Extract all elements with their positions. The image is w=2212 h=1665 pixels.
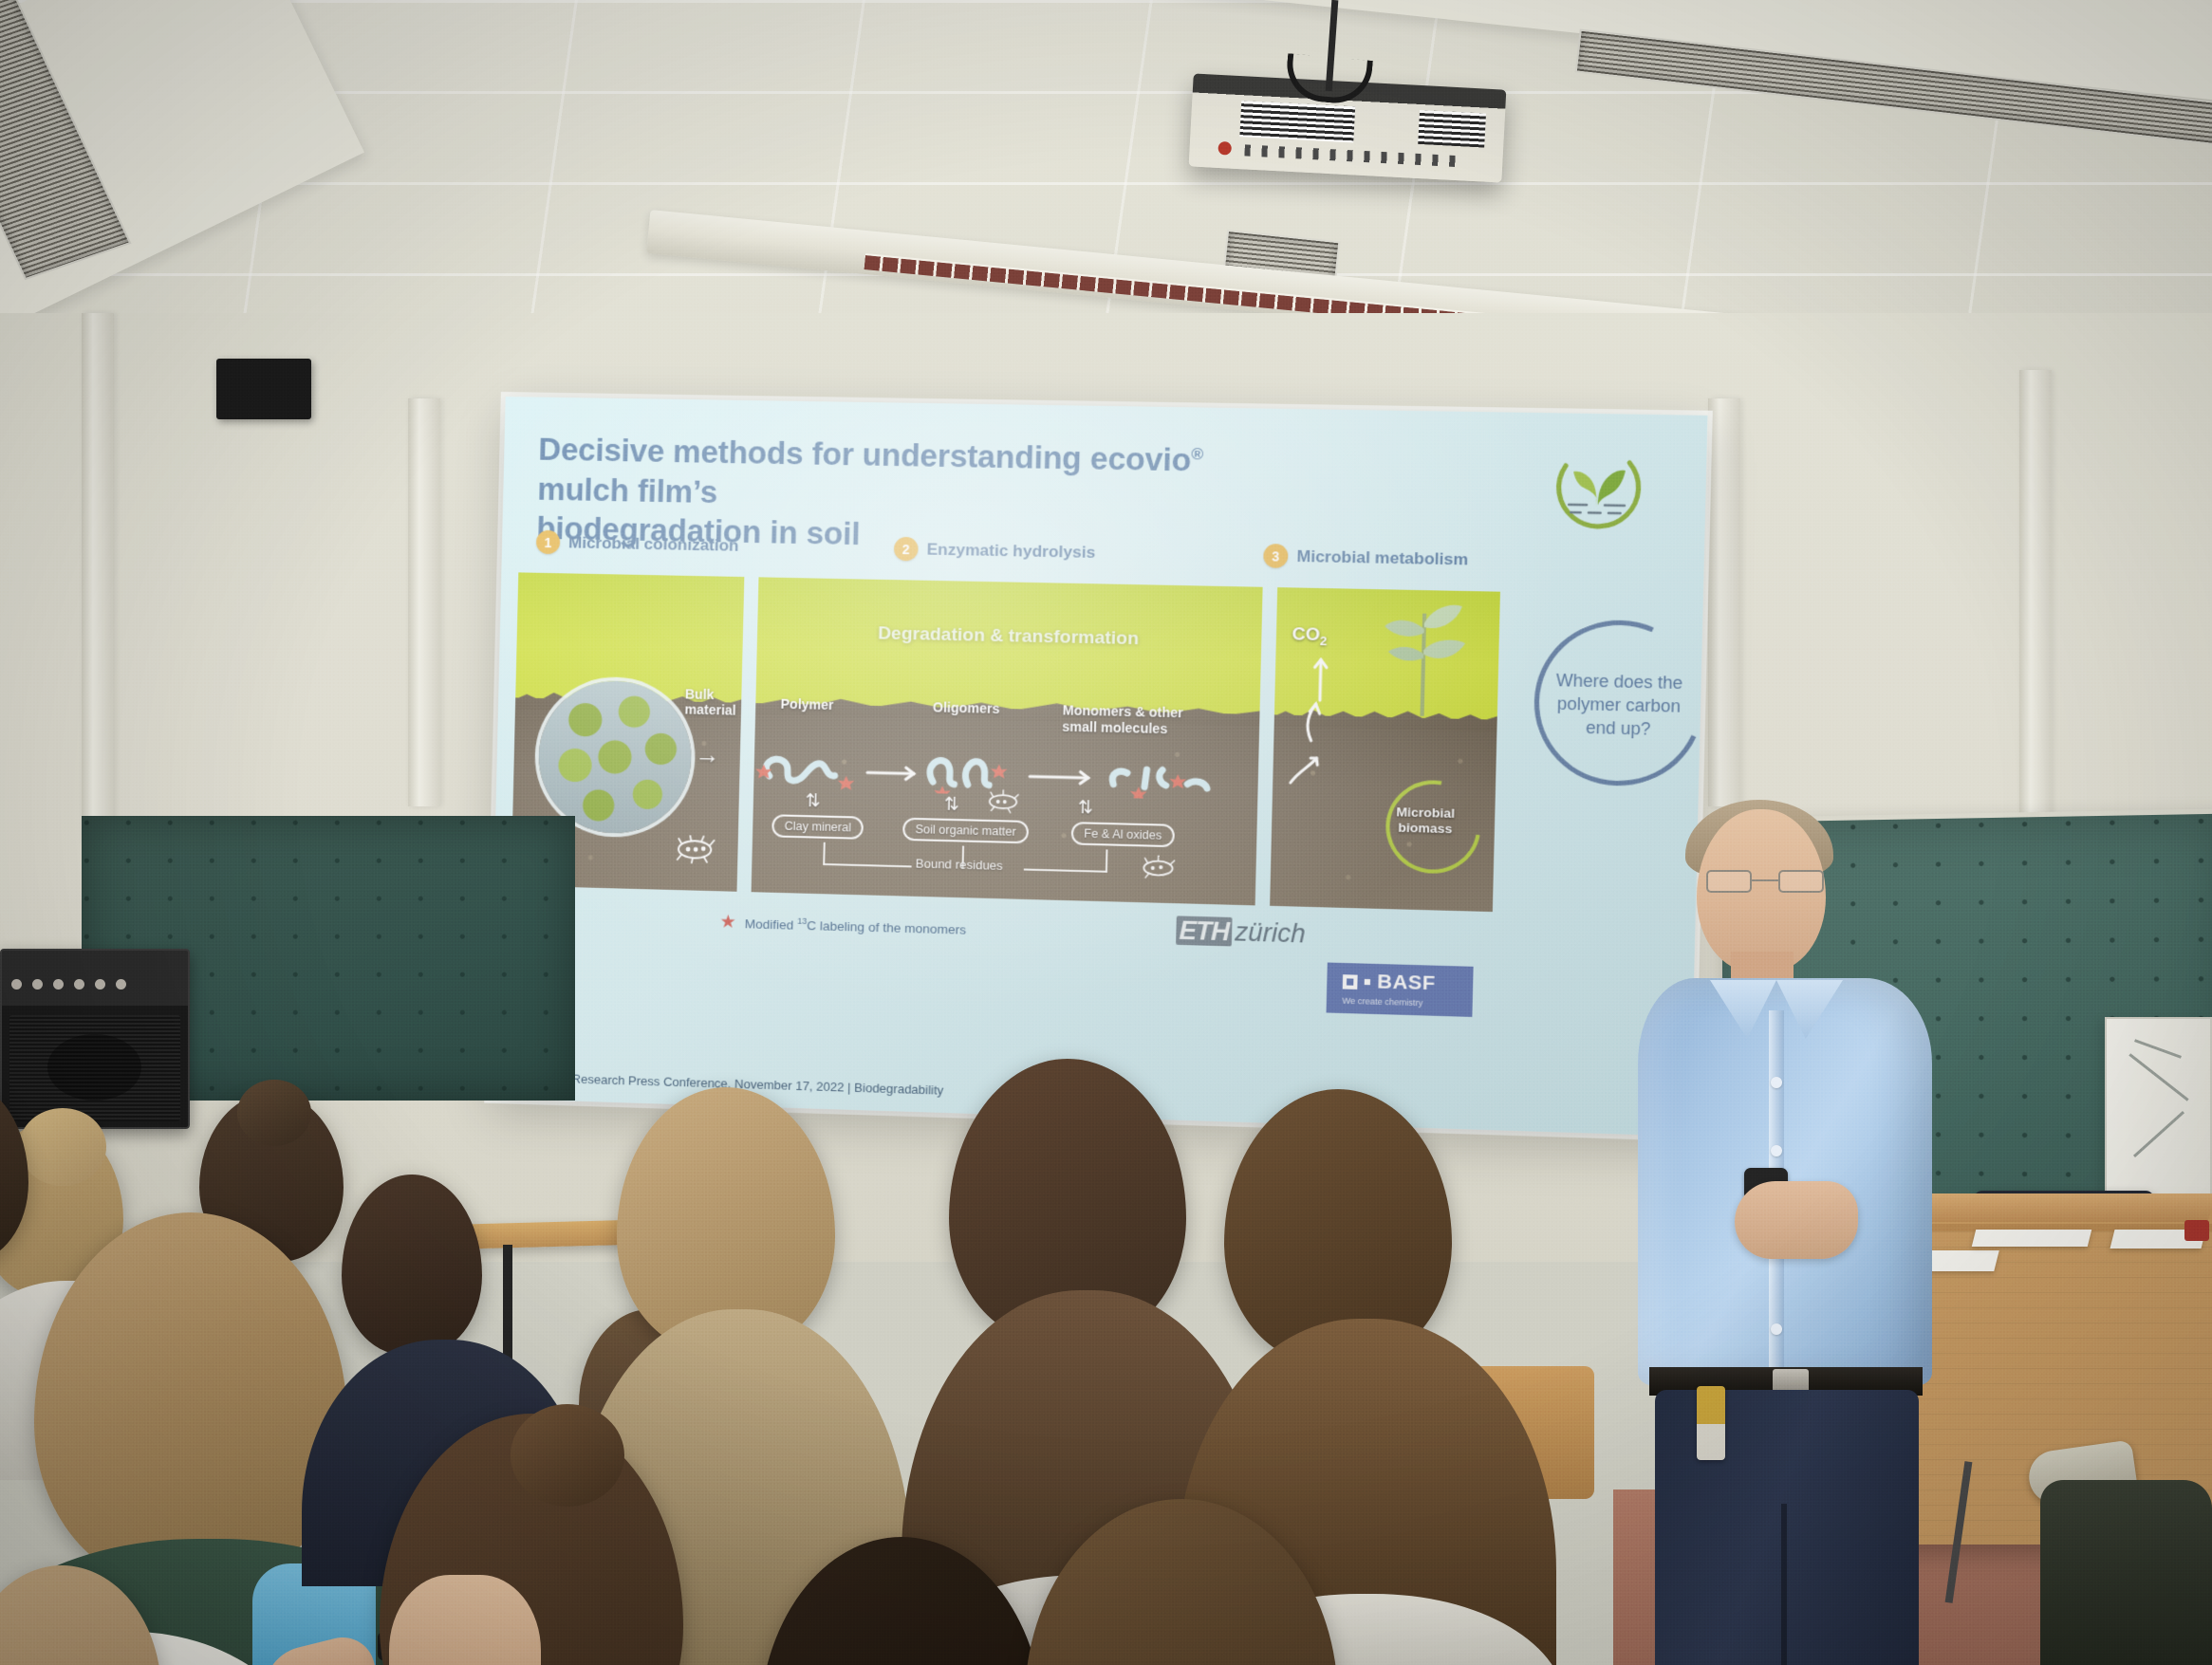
question-line2: polymer carbon (1557, 694, 1682, 715)
amp-knob-5[interactable] (95, 979, 105, 990)
eth-mark: ETH (1176, 916, 1232, 946)
projector-vent-right-icon (1418, 110, 1486, 148)
bound-residues-label: Bound residues (916, 856, 1003, 873)
co2-text: CO (1292, 624, 1320, 645)
basf-square-icon (1343, 974, 1358, 990)
bulk-material-label: Bulk material (684, 686, 744, 718)
equilibrium-arrows-3-icon: ⇅ (1077, 797, 1093, 820)
panel-microbial-metabolism: CO2 Microbial biomass (1270, 587, 1500, 912)
presenter-id-badge (1697, 1386, 1725, 1460)
registered-mark: ® (1191, 445, 1203, 464)
sorbent-fe-al-oxides: Fe & Al oxides (1071, 822, 1175, 847)
glasses-lens-right (1778, 870, 1824, 893)
lecture-hall-scene: Decisive methods for understanding ecovi… (0, 0, 2212, 1665)
step-3-number: 3 (1263, 544, 1288, 568)
biomass-line2: biomass (1398, 820, 1452, 836)
isotope-superscript: 13 (797, 916, 807, 926)
step-1: 1 Microbial colonization (536, 530, 739, 558)
desk-paper-2 (1972, 1230, 2091, 1247)
flipchart-mark-2 (2133, 1111, 2184, 1157)
ecovio-sprout-icon (1542, 436, 1652, 544)
microbe-icon-p1 (672, 835, 718, 869)
step-1-label: Microbial colonization (568, 533, 739, 555)
projector-power-led-icon (1218, 141, 1232, 156)
slide-panels: Bulk material → (511, 572, 1686, 916)
step-1-number: 1 (536, 530, 561, 554)
shirt-button-1 (1771, 1077, 1782, 1088)
sorbent-clay-mineral: Clay mineral (771, 814, 864, 840)
co2-subscript: 2 (1320, 634, 1328, 648)
audience-hair-bun-2 (237, 1080, 311, 1146)
microbe-icon-p2-mid (982, 788, 1024, 819)
projector-port-row (1244, 144, 1462, 167)
flipchart-mark-3 (2134, 1039, 2182, 1059)
co2-label: CO2 (1292, 624, 1328, 649)
panel-enzymatic-hydrolysis: Degradation & transformation Polymer Oli… (752, 577, 1263, 905)
stage-polymer-label: Polymer (780, 696, 833, 712)
microbial-biomass-label: Microbial biomass (1380, 805, 1472, 837)
shirt-button-3 (1771, 1323, 1782, 1335)
equilibrium-arrows-2-icon: ⇅ (943, 794, 959, 817)
star-icon: ★ (719, 911, 736, 934)
projector-vent-icon (1239, 101, 1355, 142)
question-line1: Where does the (1556, 671, 1683, 693)
basf-dot-icon (1365, 979, 1370, 985)
amp-knob-2[interactable] (32, 979, 43, 990)
equilibrium-arrows-1-icon: ⇅ (805, 790, 821, 813)
panel1-arrow-icon: → (695, 740, 720, 770)
sorbent-soil-organic-matter: Soil organic matter (902, 818, 1029, 844)
presenter (1632, 792, 1945, 1589)
shirt-button-2 (1771, 1145, 1782, 1156)
presenter-glasses-icon (1706, 870, 1824, 893)
step-2-label: Enzymatic hydrolysis (926, 540, 1095, 563)
seedling-icon (1357, 593, 1488, 717)
eth-zurich-logo: ETHzürich (1176, 916, 1306, 949)
audience-head-4 (342, 1175, 482, 1355)
footnote-pre: Modified (745, 916, 798, 933)
amp-knob-6[interactable] (116, 979, 126, 990)
bulk-label-line2: material (684, 702, 736, 718)
amp-knob-4[interactable] (74, 979, 84, 990)
molecule-chain-row (753, 722, 1259, 793)
basf-name: BASF (1377, 971, 1436, 995)
wall-column-4 (2019, 370, 2052, 816)
step-3: 3 Microbial metabolism (1263, 544, 1468, 572)
co2-flow-arrows-icon (1284, 647, 1366, 794)
slide-title-part1: Decisive methods for understanding ecovi… (538, 432, 1192, 478)
basf-wordmark-row: BASF (1343, 970, 1474, 996)
slide-footnote: ★ Modified 13C labeling of the monomers (719, 911, 966, 939)
audience-hair-bun-1 (19, 1108, 106, 1186)
wall-speaker (216, 359, 311, 419)
step-2: 2 Enzymatic hydrolysis (894, 537, 1096, 564)
step-3-label: Microbial metabolism (1296, 546, 1468, 569)
flipchart-mark-1 (2128, 1053, 2188, 1101)
audience (0, 1006, 1670, 1665)
wall-column-3 (1708, 398, 1740, 806)
biomass-line1: Microbial (1396, 805, 1455, 821)
footnote-post: labeling of the monomers (816, 918, 966, 936)
wall-column-1 (82, 313, 114, 844)
wall-column-2 (408, 398, 440, 806)
question-line3: end up? (1586, 717, 1651, 738)
eth-city: zürich (1235, 917, 1306, 949)
slide-title-part1b: mulch film’s (537, 471, 718, 509)
stage-oligomers-label: Oligomers (933, 699, 1000, 716)
footnote-text: Modified 13C labeling of the monomers (745, 915, 967, 936)
bulk-label-line1: Bulk (685, 686, 715, 702)
amp-knob-1[interactable] (11, 979, 22, 990)
presenter-hands (1735, 1181, 1858, 1259)
question-text: Where does the polymer carbon end up? (1541, 669, 1696, 742)
presenter-trousers (1655, 1390, 1919, 1665)
amplifier-knob-row (11, 979, 126, 990)
amp-knob-3[interactable] (53, 979, 64, 990)
desk-red-object (2184, 1220, 2209, 1241)
glasses-bridge (1752, 879, 1778, 881)
step-2-number: 2 (894, 537, 919, 562)
audience-hair-bun-10 (511, 1404, 624, 1507)
glasses-lens-left (1706, 870, 1752, 893)
question-circle: Where does the polymer carbon end up? (1533, 619, 1706, 787)
audience-member-foreground-right (2040, 1480, 2212, 1665)
microbe-icon-p2-bottom (1136, 854, 1180, 887)
isotope-symbol: C (807, 918, 816, 933)
monomers-line1: Monomers & other (1063, 702, 1183, 720)
